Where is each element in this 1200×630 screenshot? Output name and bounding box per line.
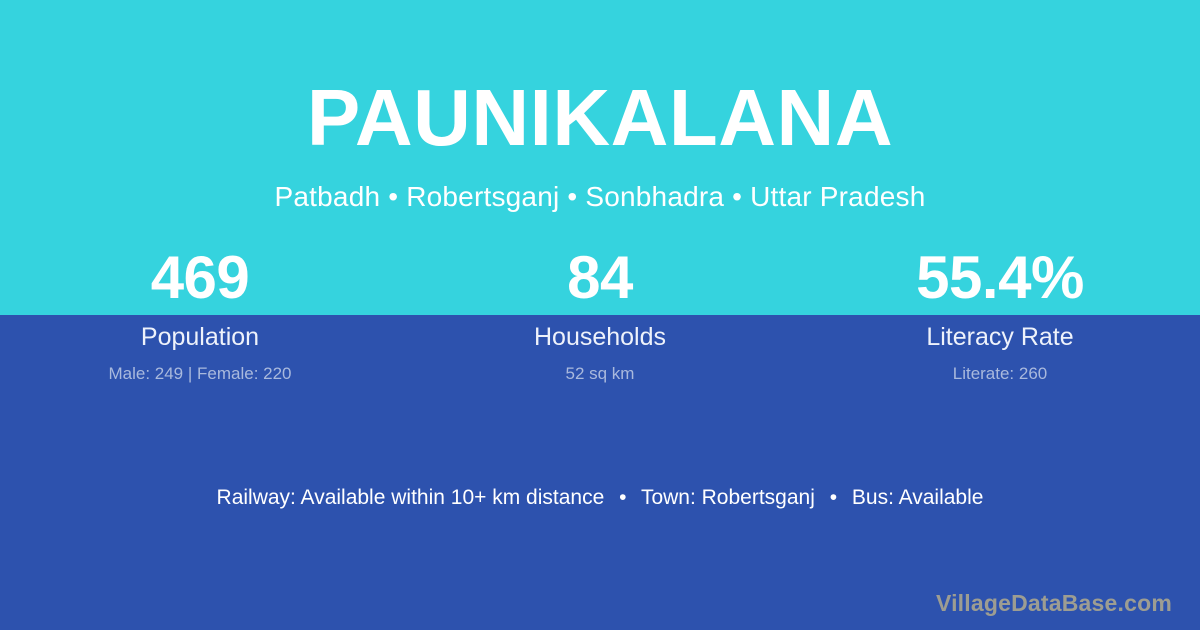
stat-value-literacy-rate: 55.4% (800, 248, 1200, 308)
stat-detail-households: 52 sq km (400, 365, 800, 384)
stat-detail-population: Male: 249 | Female: 220 (0, 365, 400, 384)
village-info-card: PAUNIKALANA Patbadh • Robertsganj • Sonb… (0, 0, 1200, 630)
card-header: PAUNIKALANA Patbadh • Robertsganj • Sonb… (0, 0, 1200, 213)
stat-detail-literacy-rate: Literate: 260 (800, 365, 1200, 384)
site-watermark: VillageDataBase.com (936, 590, 1172, 618)
stat-block-households: 84 Households 52 sq km (400, 248, 800, 383)
stat-label-households: Households (400, 324, 800, 352)
stat-label-literacy-rate: Literacy Rate (800, 324, 1200, 352)
stat-block-population: 469 Population Male: 249 | Female: 220 (0, 248, 400, 383)
facility-separator-1: • (610, 485, 635, 510)
stat-block-literacy-rate: 55.4% Literacy Rate Literate: 260 (800, 248, 1200, 383)
stat-value-households: 84 (400, 248, 800, 308)
stats-row: 469 Population Male: 249 | Female: 220 8… (0, 248, 1200, 383)
facilities-line: Railway: Available within 10+ km distanc… (0, 485, 1200, 510)
facility-separator-2: • (821, 485, 846, 510)
page-title: PAUNIKALANA (0, 78, 1200, 158)
facility-bus: Bus: Available (852, 486, 984, 509)
stat-label-population: Population (0, 324, 400, 352)
facility-railway: Railway: Available within 10+ km distanc… (217, 486, 605, 509)
facility-town: Town: Robertsganj (641, 486, 815, 509)
stat-value-population: 469 (0, 248, 400, 308)
breadcrumb: Patbadh • Robertsganj • Sonbhadra • Utta… (0, 182, 1200, 213)
